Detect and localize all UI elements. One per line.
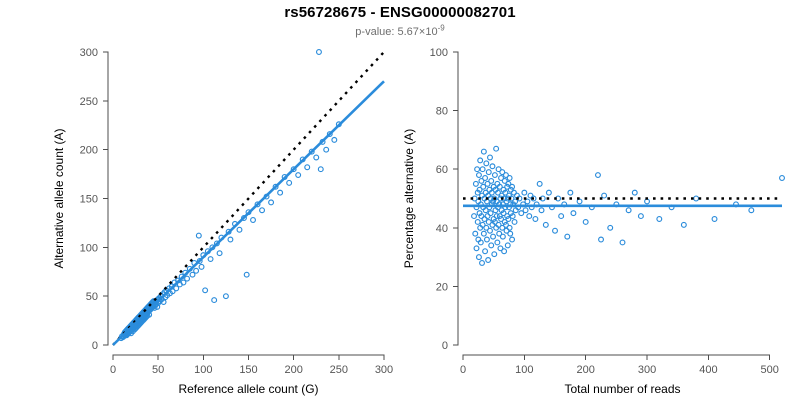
data-point: [194, 268, 199, 273]
data-point: [324, 147, 329, 152]
data-point: [260, 208, 265, 213]
figure-root: rs56728675 - ENSG00000082701 p-value: 5.…: [0, 0, 800, 400]
data-point: [639, 214, 644, 219]
data-point: [251, 218, 256, 223]
data-point: [484, 161, 489, 166]
data-point: [645, 199, 650, 204]
data-point: [559, 214, 564, 219]
data-point: [500, 234, 505, 239]
scatter-panel-allele-counts: 050100150200250300050100150200250300Refe…: [0, 0, 400, 400]
data-point: [565, 234, 570, 239]
data-point: [237, 227, 242, 232]
data-point: [199, 264, 204, 269]
allele-counts-plot: 050100150200250300050100150200250300Refe…: [0, 0, 400, 400]
data-point: [480, 167, 485, 172]
data-point: [314, 155, 319, 160]
data-point: [203, 288, 208, 293]
data-point: [475, 167, 480, 172]
data-point: [481, 231, 486, 236]
data-point: [596, 173, 601, 178]
data-point: [228, 237, 233, 242]
scatter-panel-percentage-alternative: 0204060801000100200300400500Total number…: [400, 0, 800, 400]
data-point: [505, 243, 510, 248]
data-point: [475, 220, 480, 225]
data-point: [681, 222, 686, 227]
data-point: [522, 190, 527, 195]
x-axis-tick-label: 300: [638, 364, 656, 376]
data-point: [486, 170, 491, 175]
data-point: [510, 237, 515, 242]
x-axis-tick-label: 300: [375, 364, 393, 376]
data-point: [296, 173, 301, 178]
x-axis-tick-label: 100: [515, 364, 533, 376]
data-point: [473, 231, 478, 236]
data-point: [632, 190, 637, 195]
data-point-group: [119, 50, 341, 341]
data-point: [473, 181, 478, 186]
data-point: [577, 199, 582, 204]
data-point: [553, 228, 558, 233]
percentage-alternative-plot: 0204060801000100200300400500Total number…: [400, 0, 800, 400]
y-axis-tick-label: 20: [436, 281, 448, 293]
x-axis-tick-label: 100: [194, 364, 212, 376]
fit-line: [113, 81, 384, 345]
data-point: [212, 298, 217, 303]
x-axis-tick-label: 150: [239, 364, 257, 376]
data-point: [602, 193, 607, 198]
y-axis-tick-label: 150: [80, 194, 98, 206]
y-axis-tick-label: 100: [430, 47, 448, 59]
data-point: [694, 196, 699, 201]
data-point: [571, 211, 576, 216]
data-point: [480, 261, 485, 266]
data-point: [508, 231, 513, 236]
y-axis-tick-label: 0: [92, 340, 98, 352]
x-axis-tick-label: 500: [761, 364, 779, 376]
x-axis-tick-label: 50: [152, 364, 164, 376]
data-point: [305, 165, 310, 170]
data-point: [539, 208, 544, 213]
x-axis-tick-label: 250: [330, 364, 348, 376]
data-point: [533, 217, 538, 222]
y-axis-tick-label: 0: [442, 340, 448, 352]
data-point: [488, 155, 493, 160]
data-point: [568, 190, 573, 195]
x-axis-tick-label: 0: [110, 364, 116, 376]
data-point: [244, 272, 249, 277]
data-point: [712, 217, 717, 222]
y-axis-tick-label: 40: [436, 223, 448, 235]
data-point: [490, 164, 495, 169]
data-point: [537, 181, 542, 186]
y-axis-line: [453, 52, 458, 345]
x-axis-title: Total number of reads: [564, 382, 680, 396]
data-point: [478, 158, 483, 163]
y-axis-tick-label: 250: [80, 96, 98, 108]
data-point: [488, 211, 493, 216]
data-point: [185, 276, 190, 281]
x-axis-title: Reference allele count (G): [178, 382, 318, 396]
data-point: [546, 190, 551, 195]
data-point: [474, 246, 479, 251]
data-point: [318, 167, 323, 172]
data-point: [224, 294, 229, 299]
data-point: [489, 243, 494, 248]
y-axis-tick-label: 60: [436, 164, 448, 176]
data-point: [502, 249, 507, 254]
data-point: [657, 217, 662, 222]
data-point: [583, 220, 588, 225]
data-point: [208, 257, 213, 262]
x-axis-line: [463, 355, 770, 360]
data-point: [626, 208, 631, 213]
data-point: [488, 228, 493, 233]
x-axis-tick-label: 200: [577, 364, 595, 376]
x-axis-tick-label: 0: [460, 364, 466, 376]
y-axis-title: Alternative allele count (A): [52, 128, 66, 268]
data-point: [481, 149, 486, 154]
data-point: [512, 220, 517, 225]
data-point: [492, 252, 497, 257]
data-point: [483, 176, 488, 181]
data-point: [780, 176, 785, 181]
x-axis-tick-label: 200: [284, 364, 302, 376]
data-point: [269, 200, 274, 205]
data-point: [523, 208, 528, 213]
data-point: [486, 258, 491, 263]
data-point: [525, 199, 530, 204]
data-point: [493, 173, 498, 178]
data-point: [507, 176, 512, 181]
data-point: [491, 234, 496, 239]
data-point: [489, 179, 494, 184]
y-axis-tick-label: 80: [436, 106, 448, 118]
data-point: [287, 180, 292, 185]
y-axis-tick-label: 200: [80, 145, 98, 157]
data-point: [749, 208, 754, 213]
data-point: [278, 190, 283, 195]
data-point: [495, 240, 500, 245]
data-point: [507, 225, 512, 230]
data-point: [196, 233, 201, 238]
y-axis-tick-label: 50: [86, 291, 98, 303]
data-point: [485, 237, 490, 242]
data-point: [527, 214, 532, 219]
x-axis-tick-label: 400: [699, 364, 717, 376]
data-point: [494, 146, 499, 151]
y-axis-tick-label: 100: [80, 242, 98, 254]
data-point: [543, 222, 548, 227]
data-point: [483, 249, 488, 254]
data-point: [620, 240, 625, 245]
y-axis-tick-label: 300: [80, 47, 98, 59]
data-point: [472, 214, 477, 219]
data-point: [332, 138, 337, 143]
data-point: [477, 255, 482, 260]
data-point: [608, 225, 613, 230]
data-point: [217, 251, 222, 256]
data-point: [477, 173, 482, 178]
data-point: [599, 237, 604, 242]
y-axis-title: Percentage alternative (A): [402, 129, 416, 268]
data-point: [317, 50, 322, 55]
